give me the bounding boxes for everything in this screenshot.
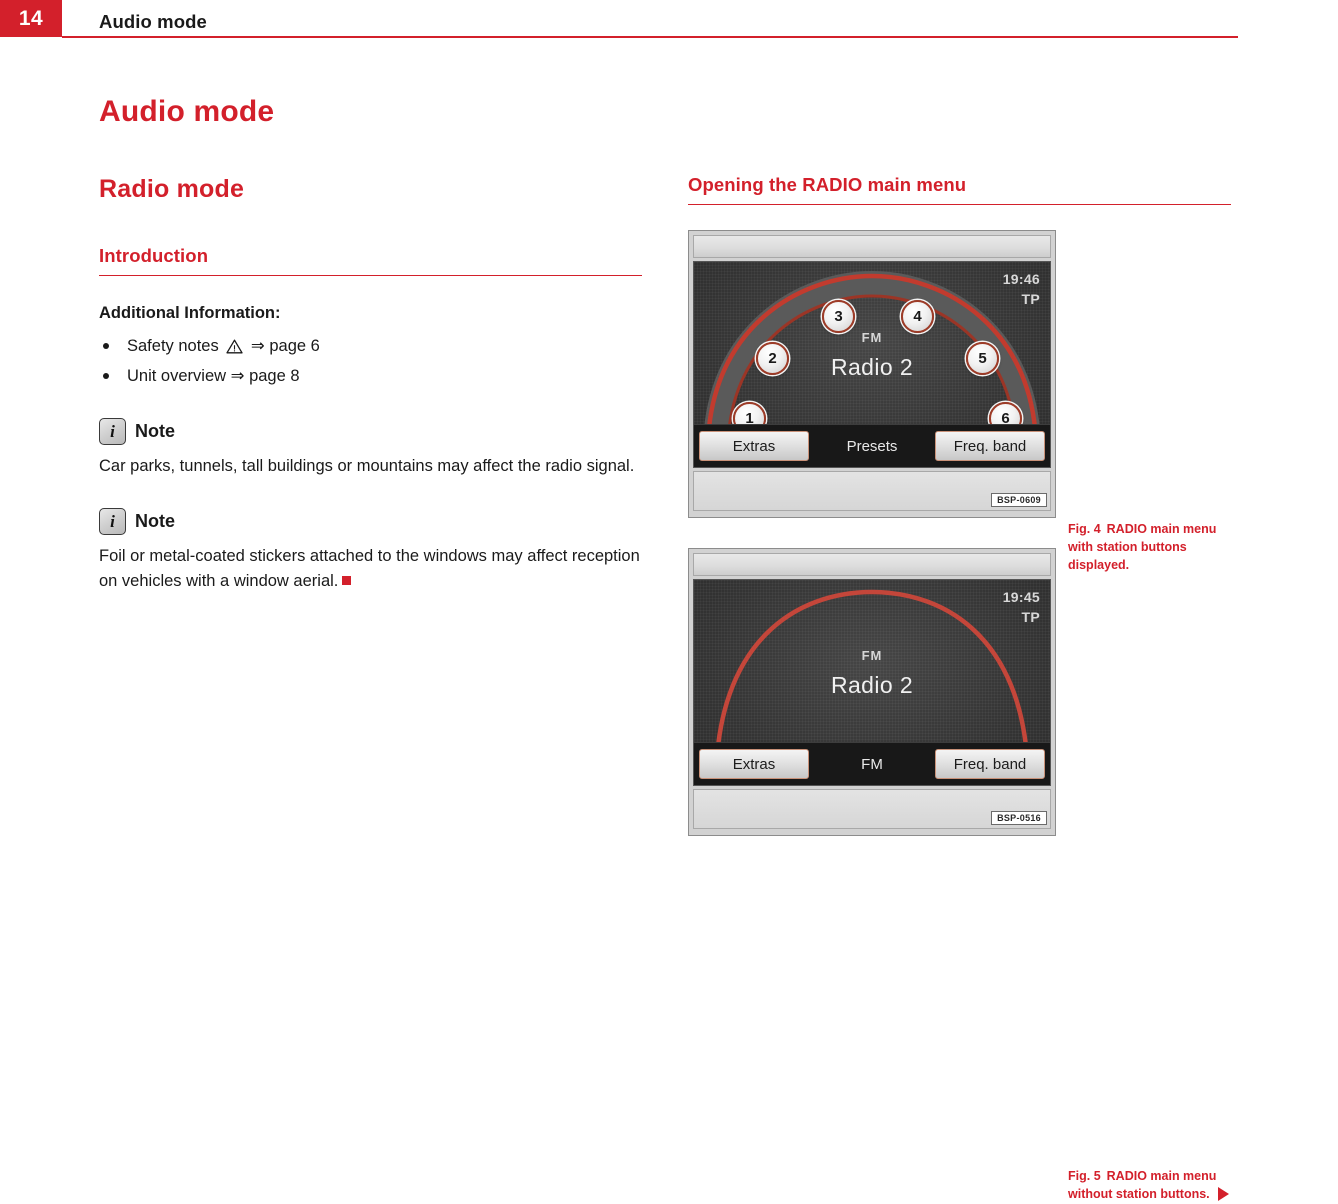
note-text: Car parks, tunnels, tall buildings or mo…: [99, 454, 644, 479]
info-icon: i: [99, 418, 126, 445]
section-end-marker-icon: [342, 576, 351, 585]
right-column: Opening the RADIO main menu 19:46 TP FM: [688, 175, 1248, 205]
screen-bezel-bottom: BSP-0609: [693, 471, 1051, 511]
preset-button-3[interactable]: 3: [822, 300, 855, 333]
list-item: Unit overview ⇒ page 8: [99, 363, 644, 390]
list-item-page-ref: page 6: [269, 337, 319, 355]
band-label: FM: [694, 648, 1050, 663]
clock-label: 19:45: [1003, 587, 1040, 607]
screen-bezel-top: [693, 553, 1051, 576]
tp-indicator: TP: [1003, 289, 1040, 309]
figure-code-badge: BSP-0609: [991, 493, 1047, 507]
band-mid-label: FM: [814, 756, 930, 773]
figure-radio-main-menu-without-presets: 19:45 TP FM Radio 2 Extras FM Freq. band…: [688, 548, 1056, 836]
info-icon: i: [99, 508, 126, 535]
figure-number: Fig. 4: [1068, 522, 1101, 536]
bullet-dot-icon: [103, 343, 109, 349]
subsection-title-opening-radio-main-menu: Opening the RADIO main menu: [688, 175, 1231, 205]
section-title: Radio mode: [99, 176, 644, 204]
left-column: Audio mode Radio mode Introduction Addit…: [99, 95, 644, 594]
soft-button-row: Extras FM Freq. band: [694, 742, 1050, 785]
presets-label: Presets: [814, 438, 930, 455]
page-number-badge: 14: [0, 0, 62, 37]
list-item-label: Safety notes: [127, 337, 219, 355]
screen-bezel-top: [693, 235, 1051, 258]
figure-caption: Fig. 5RADIO main menu without station bu…: [1068, 1168, 1243, 1204]
band-label: FM: [694, 330, 1050, 345]
page-header: 14 Audio mode: [0, 0, 1338, 40]
warning-triangle-icon: [226, 336, 243, 363]
additional-information-label: Additional Information:: [99, 304, 644, 323]
figure-code-badge: BSP-0516: [991, 811, 1047, 825]
figure-number: Fig. 5: [1068, 1169, 1101, 1183]
preset-button-2[interactable]: 2: [756, 342, 789, 375]
list-item-page-ref: page 8: [249, 367, 299, 385]
note-block: i Note Car parks, tunnels, tall building…: [99, 418, 644, 479]
header-divider: [62, 36, 1238, 38]
note-text: Foil or metal-coated stickers attached t…: [99, 544, 644, 594]
tp-indicator: TP: [1003, 607, 1040, 627]
subsection-title-introduction: Introduction: [99, 246, 642, 276]
note-block: i Note Foil or metal-coated stickers att…: [99, 508, 644, 594]
radio-display: 19:45 TP FM Radio 2 Extras FM Freq. band: [693, 579, 1051, 786]
clock-and-tp: 19:45 TP: [1003, 587, 1040, 628]
note-header: i Note: [99, 508, 644, 535]
note-label: Note: [135, 421, 175, 442]
extras-button[interactable]: Extras: [699, 749, 809, 779]
radio-display: 19:46 TP FM Radio 2 1 2 3 4 5 6 Extras P…: [693, 261, 1051, 468]
header-title: Audio mode: [99, 11, 207, 33]
radio-screen-frame: 19:45 TP FM Radio 2 Extras FM Freq. band…: [688, 548, 1056, 836]
additional-information-list: Safety notes ⇒ page 6 Unit overview ⇒ pa…: [99, 333, 644, 389]
preset-button-5[interactable]: 5: [966, 342, 999, 375]
bullet-dot-icon: [103, 373, 109, 379]
note-text-body: Foil or metal-coated stickers attached t…: [99, 547, 640, 590]
extras-button[interactable]: Extras: [699, 431, 809, 461]
arrow-symbol: ⇒: [251, 337, 265, 355]
clock-and-tp: 19:46 TP: [1003, 269, 1040, 310]
figure-radio-main-menu-with-presets: 19:46 TP FM Radio 2 1 2 3 4 5 6 Extras P…: [688, 230, 1056, 518]
page-title: Audio mode: [99, 95, 644, 128]
preset-button-4[interactable]: 4: [901, 300, 934, 333]
radio-screen-frame: 19:46 TP FM Radio 2 1 2 3 4 5 6 Extras P…: [688, 230, 1056, 518]
station-name: Radio 2: [694, 672, 1050, 699]
list-item-label: Unit overview: [127, 367, 226, 385]
arrow-symbol: ⇒: [231, 367, 245, 385]
clock-label: 19:46: [1003, 269, 1040, 289]
freq-band-button[interactable]: Freq. band: [935, 431, 1045, 461]
list-item: Safety notes ⇒ page 6: [99, 333, 644, 363]
continuation-arrow-icon: [1218, 1187, 1229, 1201]
freq-band-button[interactable]: Freq. band: [935, 749, 1045, 779]
figure-caption: Fig. 4RADIO main menu with station butto…: [1068, 521, 1243, 574]
screen-bezel-bottom: BSP-0516: [693, 789, 1051, 829]
note-header: i Note: [99, 418, 644, 445]
soft-button-row: Extras Presets Freq. band: [694, 424, 1050, 467]
note-label: Note: [135, 511, 175, 532]
